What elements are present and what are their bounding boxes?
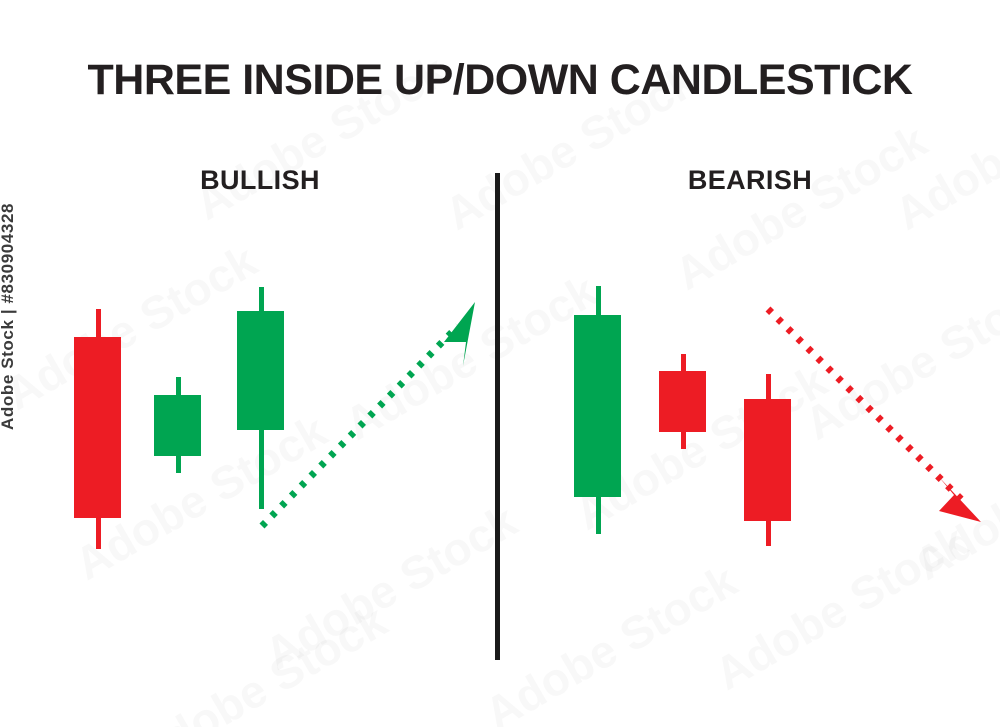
downtrend-arrow-icon <box>755 295 1000 545</box>
section-label-bullish: BULLISH <box>130 165 390 196</box>
candlestick-bearish-1 <box>574 286 621 534</box>
background-watermark: Adobe Stock <box>0 233 266 420</box>
page-title: THREE INSIDE UP/DOWN CANDLESTICK <box>0 56 1000 105</box>
candle-body <box>659 371 706 432</box>
background-watermark: Adobe Stock <box>665 113 935 300</box>
candle-body <box>74 337 121 518</box>
candlestick-bullish-2 <box>154 377 201 473</box>
illustration-canvas: Adobe Stock Adobe Stock Adobe Stock Adob… <box>0 0 1000 727</box>
background-watermark: Adobe Stock <box>475 553 745 727</box>
candle-body <box>574 315 621 497</box>
candlestick-bearish-2 <box>659 354 706 449</box>
candlestick-bullish-1 <box>74 309 121 549</box>
candle-body <box>154 395 201 456</box>
uptrend-arrow-icon <box>250 280 500 550</box>
sidebar-watermark: Adobe Stock | #830904328 <box>0 203 18 430</box>
section-label-bearish: BEARISH <box>620 165 880 196</box>
background-watermark: Adobe Stock <box>125 593 395 727</box>
